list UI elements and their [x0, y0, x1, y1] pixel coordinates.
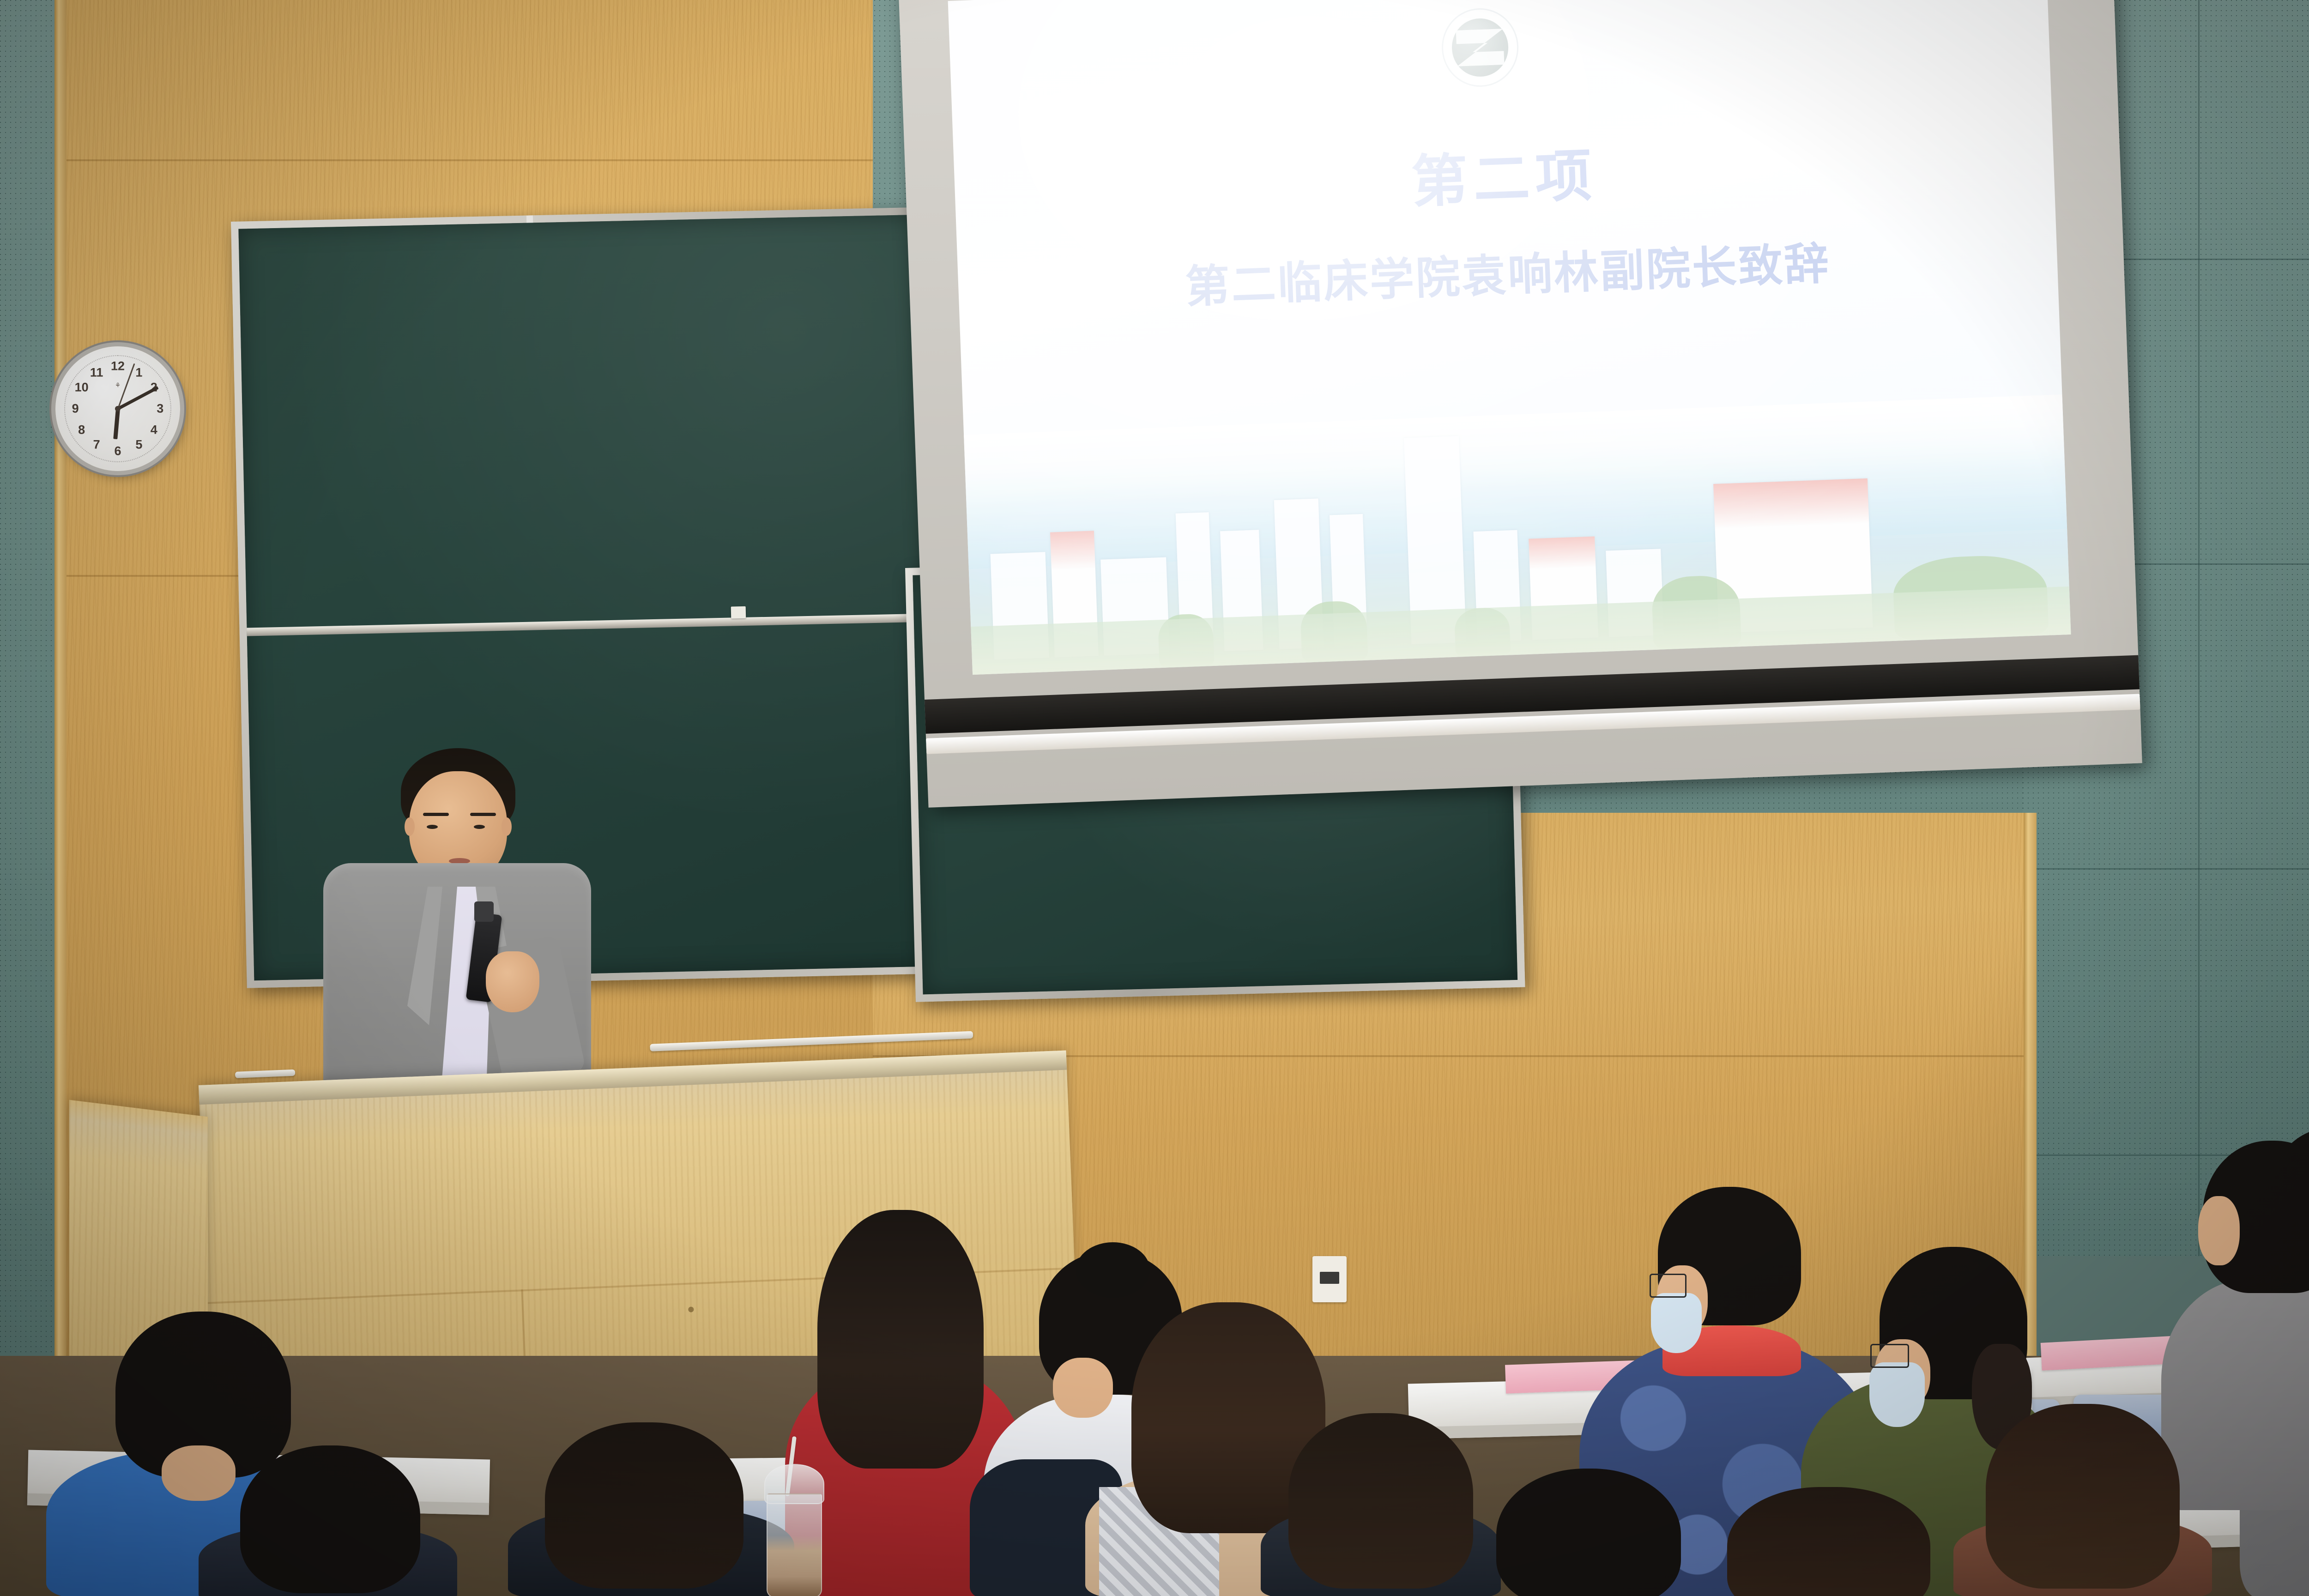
- podium-screw-2: [688, 1306, 694, 1312]
- wall-clock: ⚘ 12 1 2 3 4 5 6 7 8 9 10 11: [55, 346, 180, 471]
- audience-student-dark-jacket-left: [508, 1422, 794, 1596]
- clock-numeral-3: 3: [157, 402, 163, 416]
- wood-wall-edge-left: [54, 0, 66, 1395]
- student-long-hair: [1727, 1487, 1930, 1596]
- student-long-hair: [1288, 1413, 1473, 1589]
- presenter-brow-right: [470, 813, 496, 816]
- student-hair: [240, 1445, 420, 1593]
- student-long-hair: [1986, 1404, 2180, 1589]
- audience-student-bottom-left: [199, 1445, 457, 1596]
- wall-seam-v1: [2198, 0, 2200, 1256]
- cup-body: [767, 1493, 822, 1596]
- student-hair: [1496, 1469, 1681, 1596]
- student-hair-bun: [1076, 1242, 1150, 1298]
- eyeglasses: [1650, 1274, 1686, 1298]
- slide-subtitle: 第二临床学院袁响林副院长致辞: [957, 219, 2058, 323]
- clock-numeral-8: 8: [78, 423, 85, 437]
- clock-numeral-11: 11: [90, 365, 103, 380]
- presenter-ear-left: [405, 817, 415, 836]
- face-mask: [1651, 1293, 1702, 1353]
- chalkboard-hinge-top: [526, 215, 533, 223]
- presenter-brow-left: [423, 813, 449, 816]
- clock-numeral-4: 4: [151, 423, 157, 437]
- audience-student-front-center: [1261, 1413, 1501, 1596]
- chalk-stick: [731, 606, 746, 619]
- projection-screen: 第二项 第二临床学院袁响林副院长致辞: [898, 0, 2142, 808]
- student-face-edge: [2198, 1196, 2240, 1265]
- presentation-slide: 第二项 第二临床学院袁响林副院长致辞: [948, 0, 2071, 675]
- clock-numeral-9: 9: [72, 402, 79, 416]
- clock-numeral-5: 5: [135, 438, 142, 452]
- clock-numeral-12: 12: [111, 359, 125, 374]
- microphone-head: [474, 901, 494, 922]
- slide-title: 第二项: [954, 113, 2055, 235]
- eyeglasses: [1870, 1344, 1909, 1368]
- clock-numeral-10: 10: [75, 381, 89, 395]
- milk-tea-cup: [767, 1464, 822, 1596]
- audience-student-front-right: [1953, 1404, 2212, 1596]
- outlet-slot: [1320, 1272, 1339, 1284]
- student-long-hair: [817, 1210, 984, 1469]
- clock-numeral-1: 1: [135, 365, 142, 380]
- university-emblem-icon: [1440, 7, 1520, 88]
- presenter-eye-left: [427, 825, 438, 829]
- clock-brand-mark: ⚘: [115, 381, 121, 389]
- audience-student-bottom-right-a: [1469, 1469, 1709, 1596]
- presenter-eye-right: [474, 825, 485, 829]
- lecture-hall-photo: ⚘ 12 1 2 3 4 5 6 7 8 9 10 11: [0, 0, 2309, 1596]
- wall-seam-h3: [2023, 868, 2309, 870]
- wood-seam-a: [60, 159, 873, 161]
- presenter-ear-right: [502, 817, 512, 836]
- student-long-hair: [545, 1422, 743, 1589]
- face-mask: [1869, 1362, 1925, 1427]
- photo-projection-washout: [964, 394, 2071, 675]
- campus-skyline-photo: [964, 394, 2071, 675]
- audience-student-bottom-right-b: [1709, 1487, 1949, 1596]
- wall-power-outlet: [1312, 1256, 1347, 1302]
- clock-numeral-7: 7: [93, 438, 100, 452]
- clock-numeral-6: 6: [114, 444, 121, 458]
- presenter-hand: [486, 951, 539, 1012]
- clock-center-pin: [115, 406, 121, 411]
